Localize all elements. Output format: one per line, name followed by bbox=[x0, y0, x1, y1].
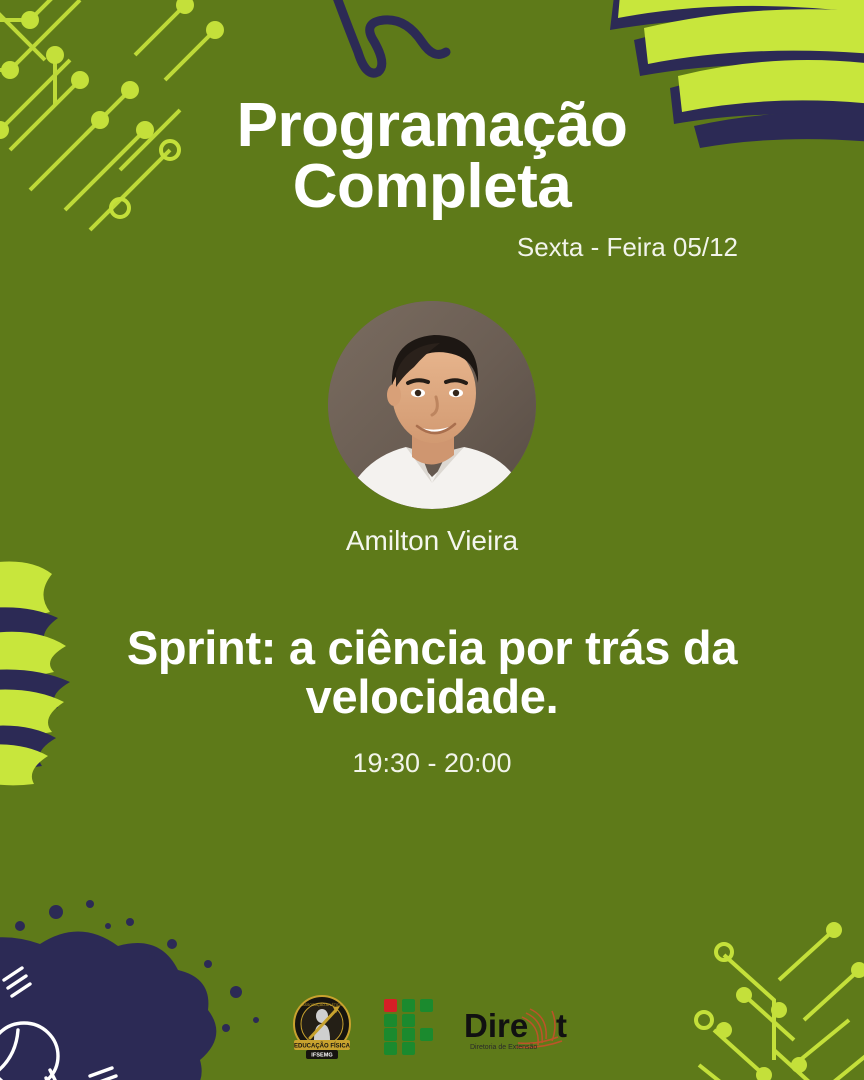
speaker-name: Amilton Vieira bbox=[346, 525, 518, 557]
avatar bbox=[328, 301, 536, 509]
session-title: Sprint: a ciência por trás da velocidade… bbox=[82, 623, 782, 723]
logo-atletica-educacao-fisica: ASSOCIAÇÃO ATLÉTICA EDUCAÇÃO FÍSICA IFSE… bbox=[286, 994, 358, 1060]
speaker-photo-wrap bbox=[328, 301, 536, 509]
svg-text:IFSEMG: IFSEMG bbox=[311, 1053, 332, 1059]
footer-logos: ASSOCIAÇÃO ATLÉTICA EDUCAÇÃO FÍSICA IFSE… bbox=[0, 994, 864, 1060]
logo-dirext: Dire t Diretoria de Extensão bbox=[460, 999, 578, 1055]
title-line-1: Programação bbox=[112, 96, 752, 157]
svg-text:Dire: Dire bbox=[464, 1007, 528, 1044]
speaker-portrait-image bbox=[328, 301, 536, 509]
event-poster: Programação Completa Sexta - Feira 05/12 bbox=[0, 0, 864, 1080]
dirext-subtitle: Diretoria de Extensão bbox=[470, 1044, 537, 1051]
event-date: Sexta - Feira 05/12 bbox=[112, 232, 752, 263]
title-line-2: Completa bbox=[112, 157, 752, 218]
session-time: 19:30 - 20:00 bbox=[352, 748, 511, 779]
svg-text:EDUCAÇÃO FÍSICA: EDUCAÇÃO FÍSICA bbox=[294, 1041, 351, 1049]
svg-text:t: t bbox=[556, 1007, 567, 1044]
svg-text:ASSOCIAÇÃO ATLÉTICA: ASSOCIAÇÃO ATLÉTICA bbox=[302, 1002, 342, 1007]
poster-content: Programação Completa Sexta - Feira 05/12 bbox=[0, 0, 864, 1080]
page-title: Programação Completa bbox=[112, 96, 752, 218]
logo-instituto-federal bbox=[384, 999, 434, 1055]
